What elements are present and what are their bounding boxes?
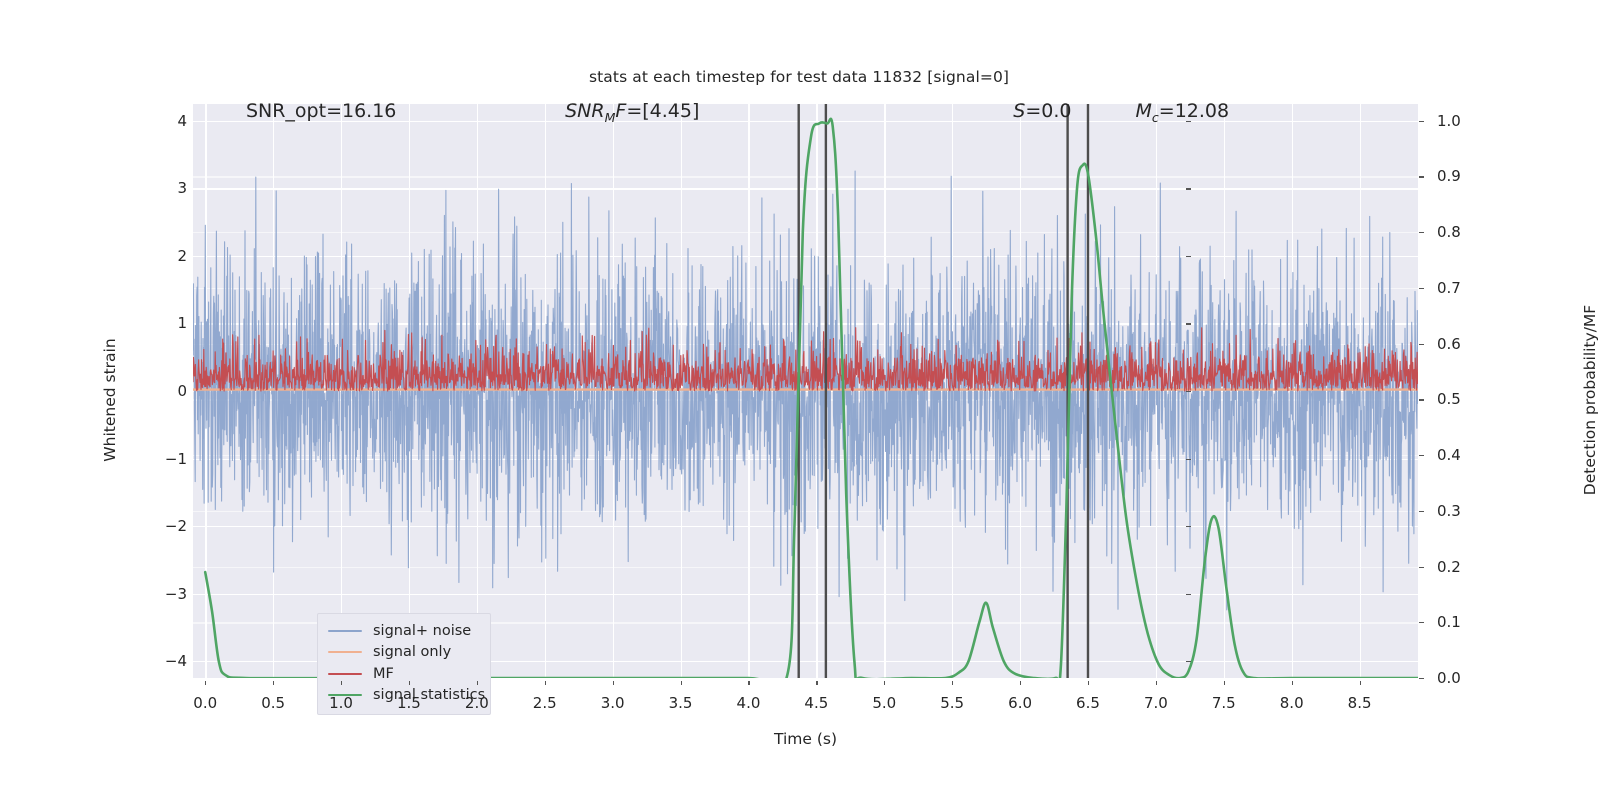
x-axis-tick-mark	[748, 681, 749, 685]
legend-item[interactable]: signal only	[318, 642, 490, 664]
y-axis-tick-mark-right	[1419, 399, 1424, 400]
annotation-snr-opt: SNR_opt=16.16	[246, 100, 396, 122]
y-axis-tick-mark-left	[1186, 459, 1191, 460]
x-axis-tick-label: 8.0	[1280, 694, 1304, 712]
x-axis-tick-mark	[477, 681, 478, 685]
y-axis-tick-mark-left	[1186, 526, 1191, 527]
legend-item-label: signal+ noise	[373, 623, 471, 639]
x-axis-tick-label: 4.0	[737, 694, 761, 712]
annotation-s-value: S=0.0	[1013, 100, 1071, 122]
x-axis-tick-mark	[1292, 681, 1293, 685]
x-axis-tick-label: 2.0	[465, 694, 489, 712]
y-axis-tick-label-right: 0.9	[1437, 167, 1461, 185]
y-axis-tick-label-right: 0.8	[1437, 223, 1461, 241]
x-axis-tick-mark	[884, 681, 885, 685]
y-axis-tick-mark-left	[1186, 391, 1191, 392]
x-axis-tick-label: 1.5	[397, 694, 421, 712]
y-axis-tick-label-right: 0.5	[1437, 390, 1461, 408]
x-axis-tick-label: 7.0	[1144, 694, 1168, 712]
x-axis-tick-mark	[1224, 681, 1225, 685]
x-axis-tick-label: 2.5	[533, 694, 557, 712]
legend-color-swatch	[328, 673, 362, 675]
x-axis-tick-label: 8.5	[1348, 694, 1372, 712]
legend-item[interactable]: signal+ noise	[318, 620, 490, 642]
x-axis-tick-mark	[341, 681, 342, 685]
x-axis-tick-label: 3.5	[669, 694, 693, 712]
x-axis-tick-label: 5.5	[940, 694, 964, 712]
x-axis-tick-mark	[1156, 681, 1157, 685]
y-axis-tick-mark-right	[1419, 622, 1424, 623]
y-axis-tick-mark-right	[1419, 455, 1424, 456]
y-axis-tick-mark-left	[1186, 188, 1191, 189]
figure-canvas: stats at each timestep for test data 118…	[0, 0, 1600, 800]
x-axis-tick-label: 0.0	[193, 694, 217, 712]
x-axis-tick-label: 0.5	[261, 694, 285, 712]
y-axis-tick-label-right: 0.4	[1437, 446, 1461, 464]
x-axis-tick-label: 6.0	[1008, 694, 1032, 712]
x-axis-tick-label: 7.5	[1212, 694, 1236, 712]
y-axis-tick-label-right: 0.3	[1437, 502, 1461, 520]
x-axis-tick-mark	[545, 681, 546, 685]
x-axis-tick-mark	[409, 681, 410, 685]
legend-item-label: MF	[373, 666, 394, 682]
y-axis-tick-mark-left	[1186, 323, 1191, 324]
y-axis-tick-mark-right	[1419, 121, 1424, 122]
y-axis-tick-mark-left	[1186, 594, 1191, 595]
y-axis-tick-mark-right	[1419, 288, 1424, 289]
y-axis-tick-mark-right	[1419, 344, 1424, 345]
y-axis-tick-label-right: 0.2	[1437, 558, 1461, 576]
x-axis-tick-label: 1.0	[329, 694, 353, 712]
y-axis-tick-label-left: 3	[177, 179, 187, 197]
y-axis-tick-mark-right	[1419, 567, 1424, 568]
y-axis-tick-label-right: 0.1	[1437, 613, 1461, 631]
plot-area	[193, 104, 1418, 678]
y-axis-tick-mark-left	[1186, 256, 1191, 257]
x-axis-tick-mark	[952, 681, 953, 685]
y-axis-label-right: Detection probability/MF	[1581, 190, 1599, 610]
x-axis-tick-mark	[1088, 681, 1089, 685]
y-axis-tick-label-left: −4	[165, 652, 187, 670]
y-axis-tick-label-left: −3	[165, 585, 187, 603]
y-axis-tick-label-right: 1.0	[1437, 112, 1461, 130]
x-axis-tick-label: 4.5	[804, 694, 828, 712]
y-axis-tick-label-left: 4	[177, 112, 187, 130]
x-axis-tick-mark	[1020, 681, 1021, 685]
legend-color-swatch	[328, 630, 362, 632]
x-axis-tick-mark	[681, 681, 682, 685]
x-axis-tick-label: 6.5	[1076, 694, 1100, 712]
data-traces	[193, 104, 1418, 678]
y-axis-label-left: Whitened strain	[101, 250, 119, 550]
chart-title: stats at each timestep for test data 118…	[0, 68, 1600, 86]
y-axis-tick-mark-right	[1419, 511, 1424, 512]
annotation-snr-mf: SNRMF=[4.45]	[565, 100, 699, 125]
y-axis-tick-label-left: 1	[177, 314, 187, 332]
y-axis-tick-label-left: 2	[177, 247, 187, 265]
legend-item-label: signal only	[373, 644, 451, 660]
y-axis-tick-label-left: −1	[165, 450, 187, 468]
legend-item[interactable]: MF	[318, 663, 490, 685]
x-axis-tick-mark	[816, 681, 817, 685]
y-axis-tick-label-right: 0.7	[1437, 279, 1461, 297]
x-axis-tick-mark	[205, 681, 206, 685]
annotation-mchirp: Mc=12.08	[1136, 100, 1230, 125]
y-axis-tick-label-left: 0	[177, 382, 187, 400]
x-axis-tick-mark	[1360, 681, 1361, 685]
x-axis-label: Time (s)	[193, 730, 1418, 748]
y-axis-tick-mark-right	[1419, 176, 1424, 177]
x-axis-tick-label: 3.0	[601, 694, 625, 712]
y-axis-tick-label-left: −2	[165, 517, 187, 535]
legend-color-swatch	[328, 651, 362, 653]
x-axis-tick-mark	[613, 681, 614, 685]
x-axis-tick-mark	[273, 681, 274, 685]
y-axis-tick-mark-right	[1419, 232, 1424, 233]
y-axis-tick-mark-left	[1186, 661, 1191, 662]
y-axis-tick-label-right: 0.0	[1437, 669, 1461, 687]
y-axis-tick-label-right: 0.6	[1437, 335, 1461, 353]
y-axis-tick-mark-right	[1419, 678, 1424, 679]
x-axis-tick-label: 5.0	[872, 694, 896, 712]
